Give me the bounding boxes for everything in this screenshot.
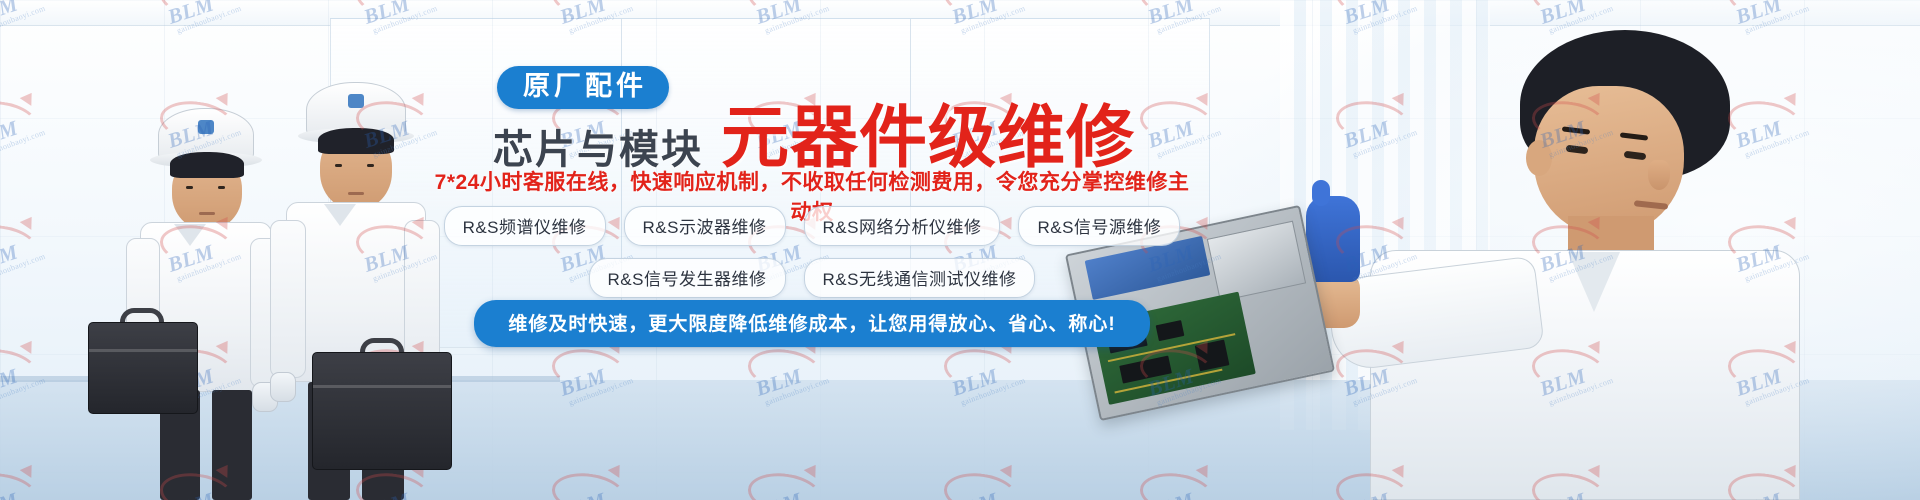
original-parts-badge: 原厂配件	[497, 66, 669, 109]
headline-row: 芯片与模块 元器件级维修	[493, 104, 1135, 172]
banner-content: 原厂配件 芯片与模块 元器件级维修 7*24小时客服在线，快速响应机制，不收取任…	[0, 0, 1920, 500]
service-pill[interactable]: R&S信号发生器维修	[589, 258, 786, 298]
service-pill[interactable]: R&S无线通信测试仪维修	[804, 258, 1036, 298]
cta-row: 维修及时快速，更大限度降低维修成本，让您用得放心、省心、称心!	[432, 300, 1192, 347]
service-pill-group: R&S频谱仪维修R&S示波器维修R&S网络分析仪维修R&S信号源维修 R&S信号…	[432, 206, 1192, 310]
badge-row: 原厂配件	[497, 66, 669, 109]
headline-main: 元器件级维修	[721, 104, 1135, 172]
promo-banner: BLMgainzhoubaoyi.comBLMgainzhoubaoyi.com…	[0, 0, 1920, 500]
service-pill[interactable]: R&S网络分析仪维修	[804, 206, 1001, 246]
service-pill[interactable]: R&S频谱仪维修	[444, 206, 606, 246]
cta-banner: 维修及时快速，更大限度降低维修成本，让您用得放心、省心、称心!	[474, 300, 1149, 347]
service-pill-row-1: R&S频谱仪维修R&S示波器维修R&S网络分析仪维修R&S信号源维修	[432, 206, 1192, 246]
service-pill-row-2: R&S信号发生器维修R&S无线通信测试仪维修	[432, 258, 1192, 298]
service-pill[interactable]: R&S信号源维修	[1018, 206, 1180, 246]
service-pill[interactable]: R&S示波器维修	[624, 206, 786, 246]
